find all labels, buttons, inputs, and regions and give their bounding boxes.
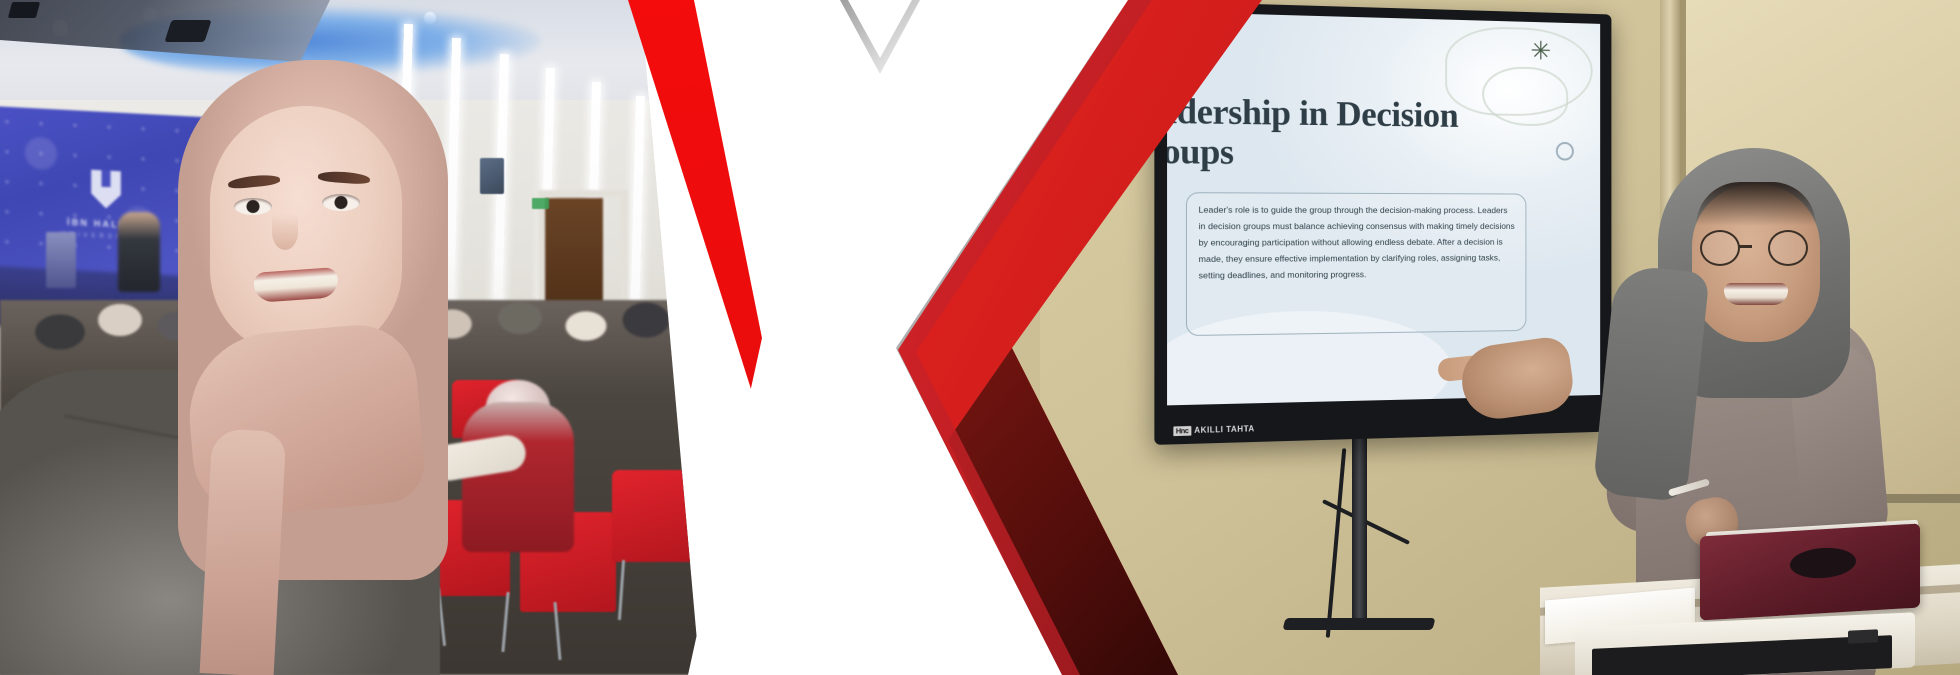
exit-sign-icon [532,198,549,209]
eyeglasses-bridge-icon [1738,245,1752,248]
eyeglasses-icon [1700,230,1740,266]
board-stand-pole [1352,438,1367,628]
subject-face [210,106,402,356]
wall-speaker [480,158,504,194]
asterisk-icon: ✳ [1530,38,1551,64]
ceiling-light-fixture-icon [8,2,40,18]
speaker-on-stage [118,212,160,292]
brand-name: AKILLI TAHTA [1194,425,1254,435]
university-shield-notch-icon [102,170,111,187]
slide-title: Leadership in Decision Groups [1167,91,1523,174]
eye [234,198,272,215]
audience-member-red-vest [462,402,574,552]
projector-icon [164,20,211,42]
laptop-camera-icon [1848,629,1878,643]
left-photo-conference-selfie: İBN HALDUN ÜNİVERSİTESİ [0,0,700,675]
smart-board-brand: Hnc AKILLI TAHTA [1173,424,1254,436]
eye [322,194,360,211]
presenter-smile [1724,283,1788,305]
collage-canvas: İBN HALDUN ÜNİVERSİTESİ [0,0,1960,675]
circle-outline-icon [1556,142,1574,161]
board-stand-foot [1283,618,1436,630]
eyeglasses-icon [1768,230,1808,266]
hijab-tail [200,428,287,675]
nose [272,214,298,250]
slide-body-text: Leader's role is to guide the group thro… [1186,192,1526,336]
podium [46,232,76,288]
auditorium-chair [612,470,698,562]
brand-mark: Hnc [1173,426,1191,436]
